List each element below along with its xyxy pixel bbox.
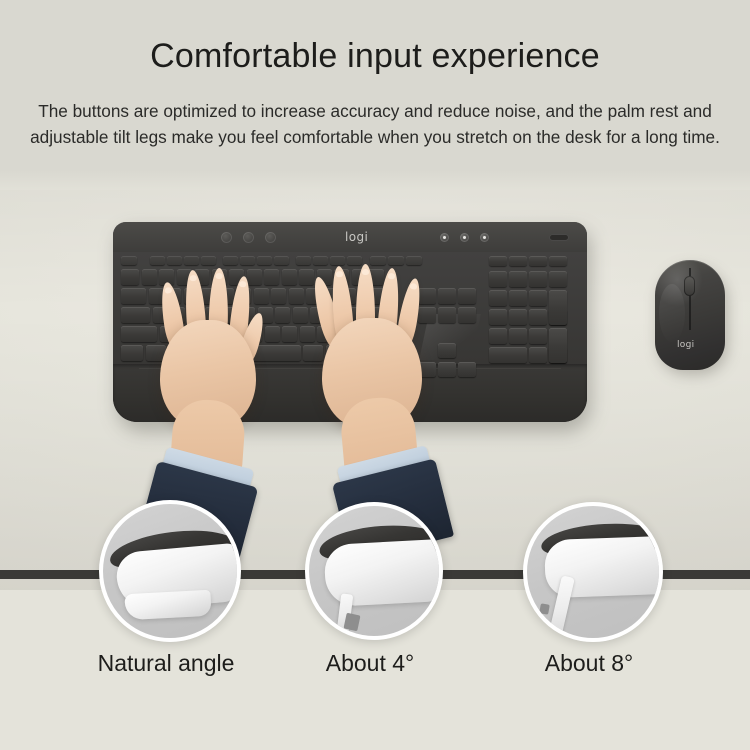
keyboard-key [121,326,157,342]
keyboard-key [275,307,290,323]
keyboard-key [150,256,165,265]
status-led-3 [480,233,489,242]
keyboard-key [406,256,422,265]
keyboard-key [489,271,507,287]
keyboard-key [330,256,345,265]
mouse-device: logi [655,260,727,372]
status-led-1 [440,233,449,242]
keyboard-key [529,309,547,325]
keyboard-key [282,326,297,342]
keyboard-key [549,328,567,363]
keyboard-key [458,307,476,323]
status-led-2 [460,233,469,242]
keyboard-key [509,328,527,344]
keyboard-key [529,328,547,344]
tilt-inset-8deg [523,502,663,642]
keyboard-key [121,269,139,285]
keyboard-key [438,307,456,323]
keyboard-key [201,256,216,265]
keyboard-key [282,269,297,285]
keyboard-key [489,256,507,266]
keyboard-key [529,290,547,306]
keyboard-key [489,290,507,306]
keyboard-brand-logo: logi [345,230,368,244]
keyboard-key [303,345,323,361]
keyboard-key [438,343,456,358]
keyboard-key [370,256,386,265]
keyboard-key [289,288,304,304]
keyboard-key [458,362,476,377]
keyboard-key [313,256,328,265]
keyboard-key [347,256,362,265]
keyboard-key [223,256,238,265]
keyboard-key [529,256,547,266]
keyboard-key [388,256,404,265]
keyboard-key [167,256,182,265]
page-title: Comfortable input experience [0,36,750,76]
media-button-2 [243,232,254,243]
mouse-brand-logo: logi [677,340,694,350]
keyboard-key [509,290,527,306]
keyboard-key [184,256,199,265]
keyboard-key [509,309,527,325]
keyboard-key [299,269,314,285]
keyboard-key [274,256,289,265]
keyboard-key [458,288,476,304]
keyboard-key [438,288,456,304]
headline-banner: Comfortable input experience The buttons… [0,0,750,196]
keyboard-key [265,326,280,342]
tilt-inset-natural [99,500,241,642]
keyboard-key [489,328,507,344]
description-text: The buttons are optimized to increase ac… [22,98,728,150]
keyboard-key [509,271,527,287]
keyboard-key [121,288,146,304]
keyboard-key [300,326,315,342]
keyboard-key [529,271,547,287]
mouse-body: logi [655,260,725,370]
keyboard-key [418,288,436,304]
mouse-left-button [659,284,685,342]
keyboard-key [121,345,143,361]
keyboard-key [489,309,507,325]
keyboard-key [296,256,311,265]
keyboard-side-foot [124,590,211,620]
battery-indicator [549,234,569,241]
keyboard-key [142,269,157,285]
product-feature-image: Comfortable input experience The buttons… [0,0,750,750]
keyboard-key [549,256,567,266]
keyboard-key [529,347,547,363]
media-button-1 [221,232,232,243]
keyboard-key [121,307,150,323]
tilt-caption-4deg: About 4° [243,650,497,677]
tilt-inset-4deg [305,502,443,640]
keyboard-key [489,347,527,363]
keyboard-key [240,256,255,265]
keyboard-key [549,290,567,325]
tilt-leg-foot [539,603,550,614]
keyboard-key [438,362,456,377]
scroll-wheel [684,276,695,296]
keyboard-key [271,288,286,304]
keyboard-key [418,307,436,323]
keyboard-key [549,271,567,287]
keyboard-key [257,256,272,265]
tilt-caption-8deg: About 8° [462,650,716,677]
media-button-3 [265,232,276,243]
keyboard-key [121,256,137,265]
tilt-leg-foot [343,613,360,632]
keyboard-key [254,288,269,304]
keyboard-key [247,269,262,285]
keyboard-key [264,269,279,285]
keyboard-key [293,307,308,323]
keyboard-key [509,256,527,266]
